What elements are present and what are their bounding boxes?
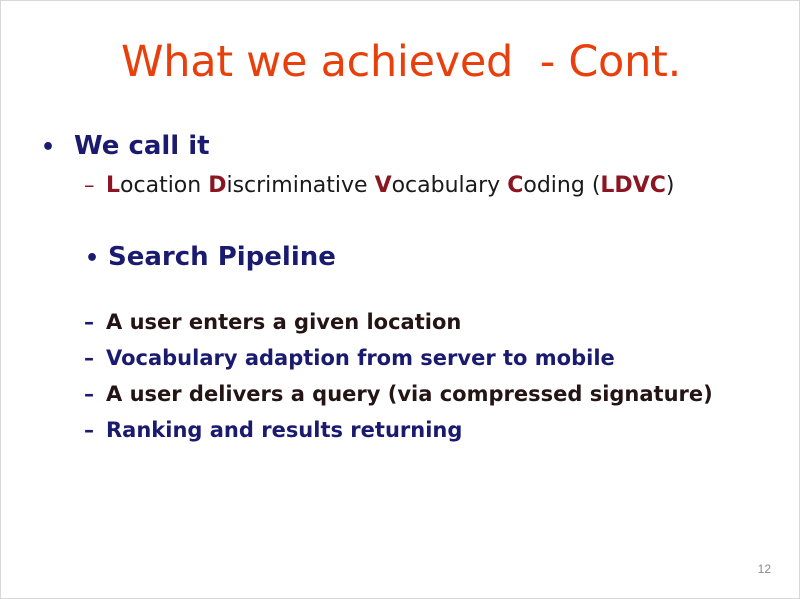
ldvc-definition-text: Location Discriminative Vocabulary Codin… bbox=[106, 173, 674, 198]
pipeline-step-3-label: A user delivers a query (via compressed … bbox=[106, 382, 713, 406]
pipeline-step-4-label: Ranking and results returning bbox=[106, 418, 462, 442]
bullet-point-icon: • bbox=[41, 135, 74, 160]
slide-body: • We call it – Location Discriminative V… bbox=[1, 131, 800, 454]
page-number: 12 bbox=[758, 562, 771, 576]
ldvc-word-vocabulary: ocabulary bbox=[392, 173, 508, 198]
pipeline-step-2-label: Vocabulary adaption from server to mobil… bbox=[106, 346, 615, 370]
ldvc-paren-close: ) bbox=[666, 173, 675, 198]
dash-bullet-icon: – bbox=[84, 418, 106, 442]
ldvc-word-discriminative: iscriminative bbox=[226, 173, 374, 198]
list-item: – A user delivers a query (via compresse… bbox=[1, 382, 800, 406]
slide-title: What we achieved - Cont. bbox=[1, 39, 800, 86]
bullet-we-call-it: • We call it bbox=[1, 131, 800, 161]
heading-we-call-it-label: We call it bbox=[74, 131, 210, 161]
ldvc-word-location: ocation bbox=[120, 173, 208, 198]
sub-bullet-ldvc-definition: – Location Discriminative Vocabulary Cod… bbox=[1, 173, 800, 198]
ldvc-acronym: LDVC bbox=[600, 173, 665, 198]
ldvc-cap-l: L bbox=[106, 173, 120, 198]
ldvc-cap-c: C bbox=[507, 173, 523, 198]
list-item: – Ranking and results returning bbox=[1, 418, 800, 442]
ldvc-word-coding: oding bbox=[523, 173, 591, 198]
bullet-point-icon: • bbox=[85, 246, 108, 271]
ldvc-cap-d: D bbox=[208, 173, 226, 198]
dash-bullet-icon: – bbox=[84, 173, 106, 197]
dash-bullet-icon: – bbox=[84, 382, 106, 406]
ldvc-cap-v: V bbox=[375, 173, 392, 198]
dash-bullet-icon: – bbox=[84, 310, 106, 334]
vertical-spacer-2 bbox=[1, 272, 800, 310]
presentation-slide: What we achieved - Cont. • We call it – … bbox=[0, 0, 800, 599]
heading-search-pipeline-label: Search Pipeline bbox=[108, 242, 336, 272]
dash-bullet-icon: – bbox=[84, 346, 106, 370]
list-item: – Vocabulary adaption from server to mob… bbox=[1, 346, 800, 370]
bullet-search-pipeline: • Search Pipeline bbox=[1, 242, 800, 272]
list-item: – A user enters a given location bbox=[1, 310, 800, 334]
vertical-spacer-1 bbox=[1, 208, 800, 242]
pipeline-step-1-label: A user enters a given location bbox=[106, 310, 461, 334]
